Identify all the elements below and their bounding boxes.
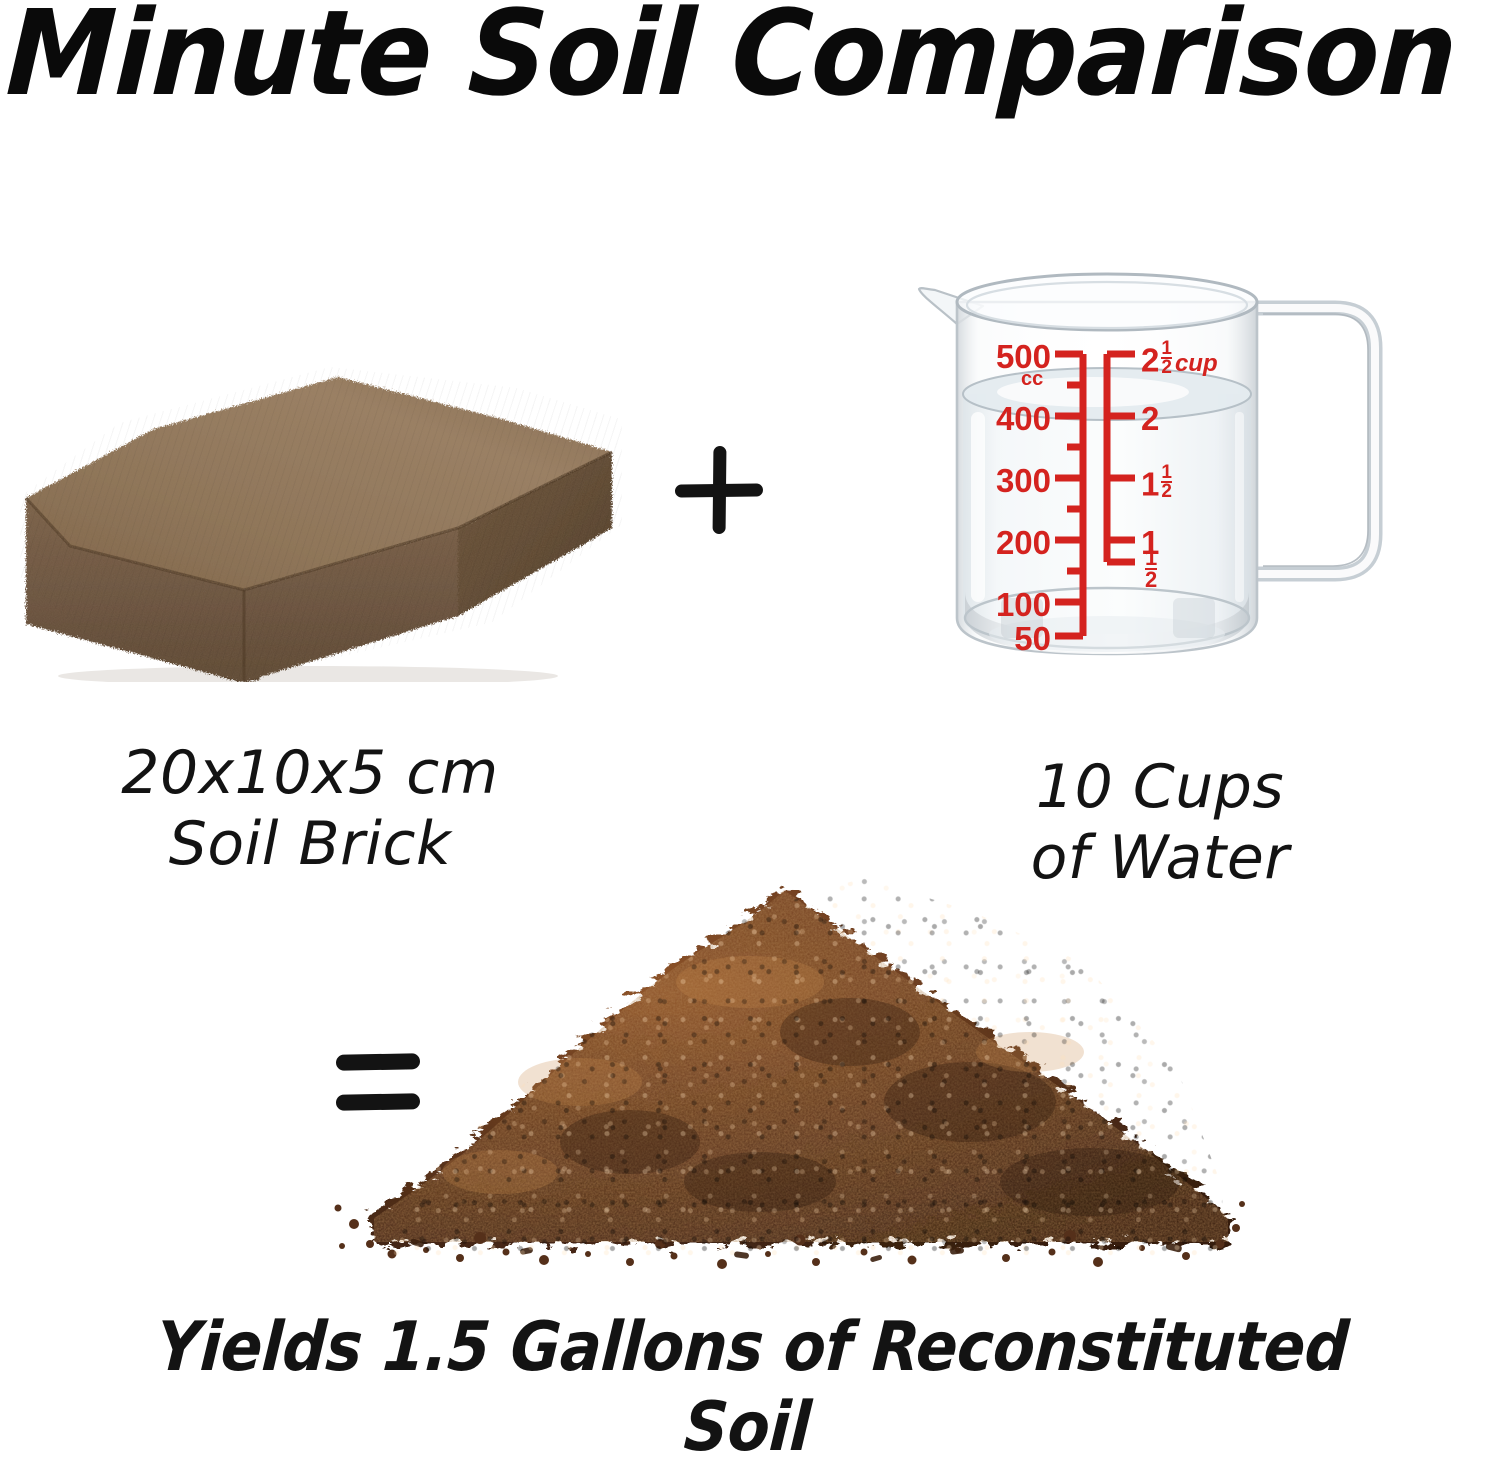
cc-label-100: 100: [933, 588, 1051, 621]
cup-label-1-and-half: 112: [1141, 464, 1172, 501]
soil-pile-image: [330, 852, 1250, 1282]
cup-whole-1: 1: [1141, 465, 1159, 502]
cup-label-half: 12: [1143, 548, 1157, 590]
cc-label-300: 300: [933, 464, 1051, 497]
cup-fraction-half: 12: [1161, 340, 1172, 377]
cup-unit-label: cup: [1175, 350, 1218, 377]
cup-scale-labels: 500 cc 400 300 200 100 50 212cup 2 112 1…: [905, 262, 1395, 674]
measuring-cup-image: 500 cc 400 300 200 100 50 212cup 2 112 1…: [905, 262, 1395, 674]
plus-operator: [672, 443, 766, 537]
yield-caption: Yields 1.5 Gallons of Reconstituted Soil: [119, 1308, 1380, 1468]
page-title: Minute Soil Comparison: [4, 0, 1386, 116]
cc-label-400: 400: [933, 402, 1051, 435]
cup-label-2: 2: [1141, 402, 1159, 435]
cup-whole-2: 2: [1141, 341, 1159, 378]
cc-unit-label: cc: [1021, 369, 1043, 389]
infographic-canvas: Minute Soil Comparison: [0, 0, 1500, 1379]
cup-label-2-and-half: 212cup: [1141, 340, 1218, 377]
cc-label-200: 200: [933, 526, 1051, 559]
soil-brick-image: [8, 332, 628, 682]
plus-horizontal-stroke: [675, 483, 763, 497]
cup-fraction-half-2: 12: [1161, 464, 1172, 501]
cc-label-50: 50: [933, 622, 1051, 655]
cup-fraction-half-3: 12: [1145, 548, 1157, 590]
